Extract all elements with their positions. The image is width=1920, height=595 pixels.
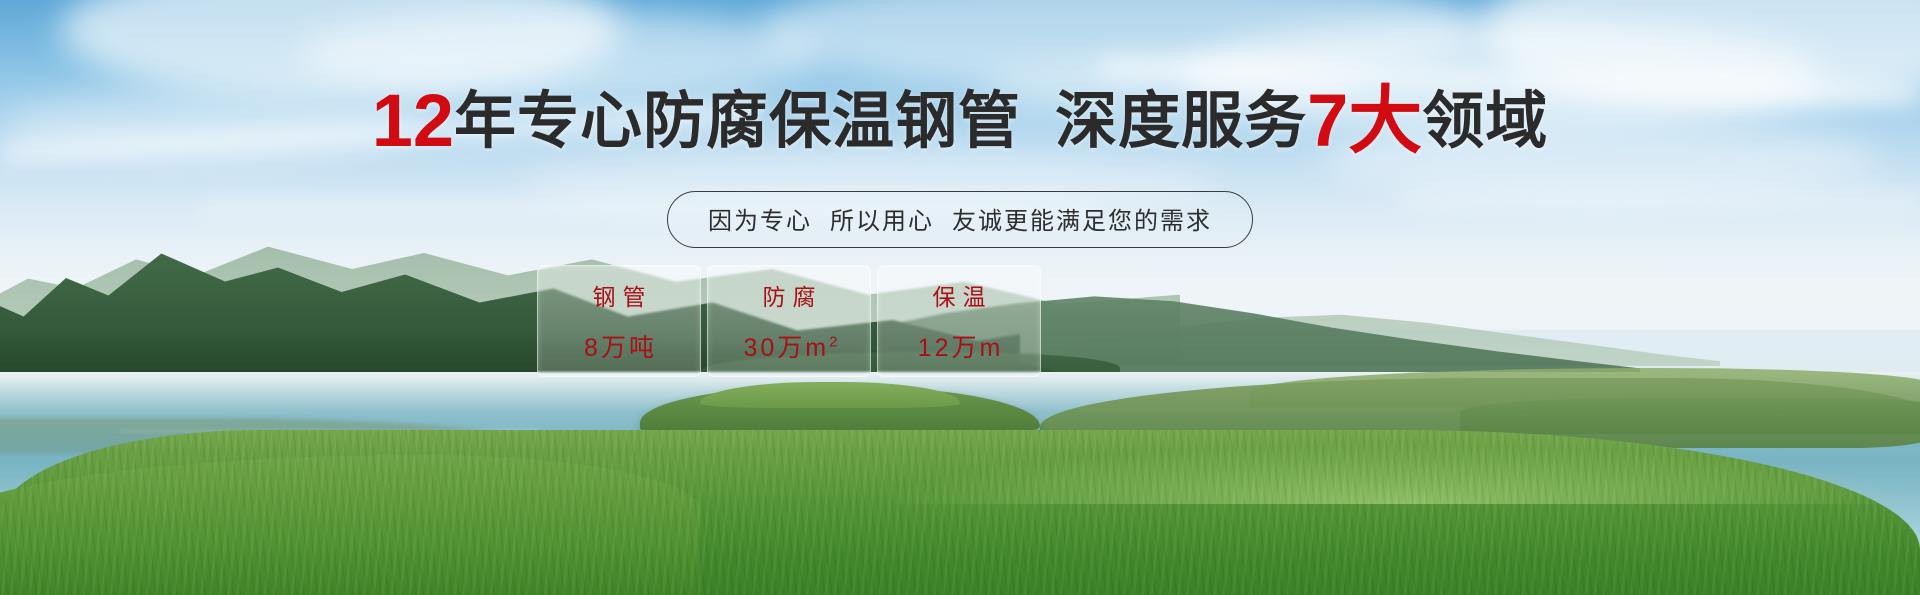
headline-years-number: 12 — [372, 79, 454, 162]
headline: 12年专心防腐保温钢管深度服务7大领域 — [0, 84, 1920, 158]
stat-card-label: 钢管 — [586, 278, 653, 312]
stat-card-insulation[interactable]: 保温 12万m — [877, 265, 1041, 377]
stat-card-value-exponent: 2 — [829, 334, 837, 351]
subtitle-container: 因为专心所以用心友诚更能满足您的需求 — [0, 191, 1920, 248]
stat-card-anticorrosion[interactable]: 防腐 30万m2 — [707, 265, 871, 377]
subtitle-segment-2: 所以用心 — [830, 208, 934, 235]
headline-fields-number: 7 — [1307, 79, 1348, 162]
stat-card-label: 保温 — [926, 278, 993, 312]
stat-card-value: 12万m — [915, 328, 1004, 364]
stats-card-group: 钢管 8万吨 防腐 30万m2 保温 12万m — [537, 265, 1041, 377]
hero-banner: 12年专心防腐保温钢管深度服务7大领域 因为专心所以用心友诚更能满足您的需求 钢… — [0, 0, 1920, 595]
subtitle-segment-1: 因为专心 — [708, 208, 812, 235]
banner-content: 12年专心防腐保温钢管深度服务7大领域 因为专心所以用心友诚更能满足您的需求 钢… — [0, 0, 1920, 595]
subtitle-segment-3: 友诚更能满足您的需求 — [952, 208, 1212, 235]
headline-text-primary: 年专心防腐保温钢管 — [454, 87, 1021, 156]
stat-card-label: 防腐 — [756, 278, 823, 312]
subtitle-pill: 因为专心所以用心友诚更能满足您的需求 — [667, 191, 1253, 248]
stat-card-steel-pipe[interactable]: 钢管 8万吨 — [537, 265, 701, 377]
stat-card-value: 30万m2 — [741, 328, 838, 364]
stat-card-value: 8万吨 — [581, 328, 657, 364]
stat-card-value-main: 30万m — [744, 334, 830, 362]
headline-text-secondary: 深度服务 — [1055, 87, 1307, 156]
headline-fields-unit: 大 — [1348, 79, 1422, 162]
headline-text-tertiary: 领域 — [1422, 87, 1548, 156]
